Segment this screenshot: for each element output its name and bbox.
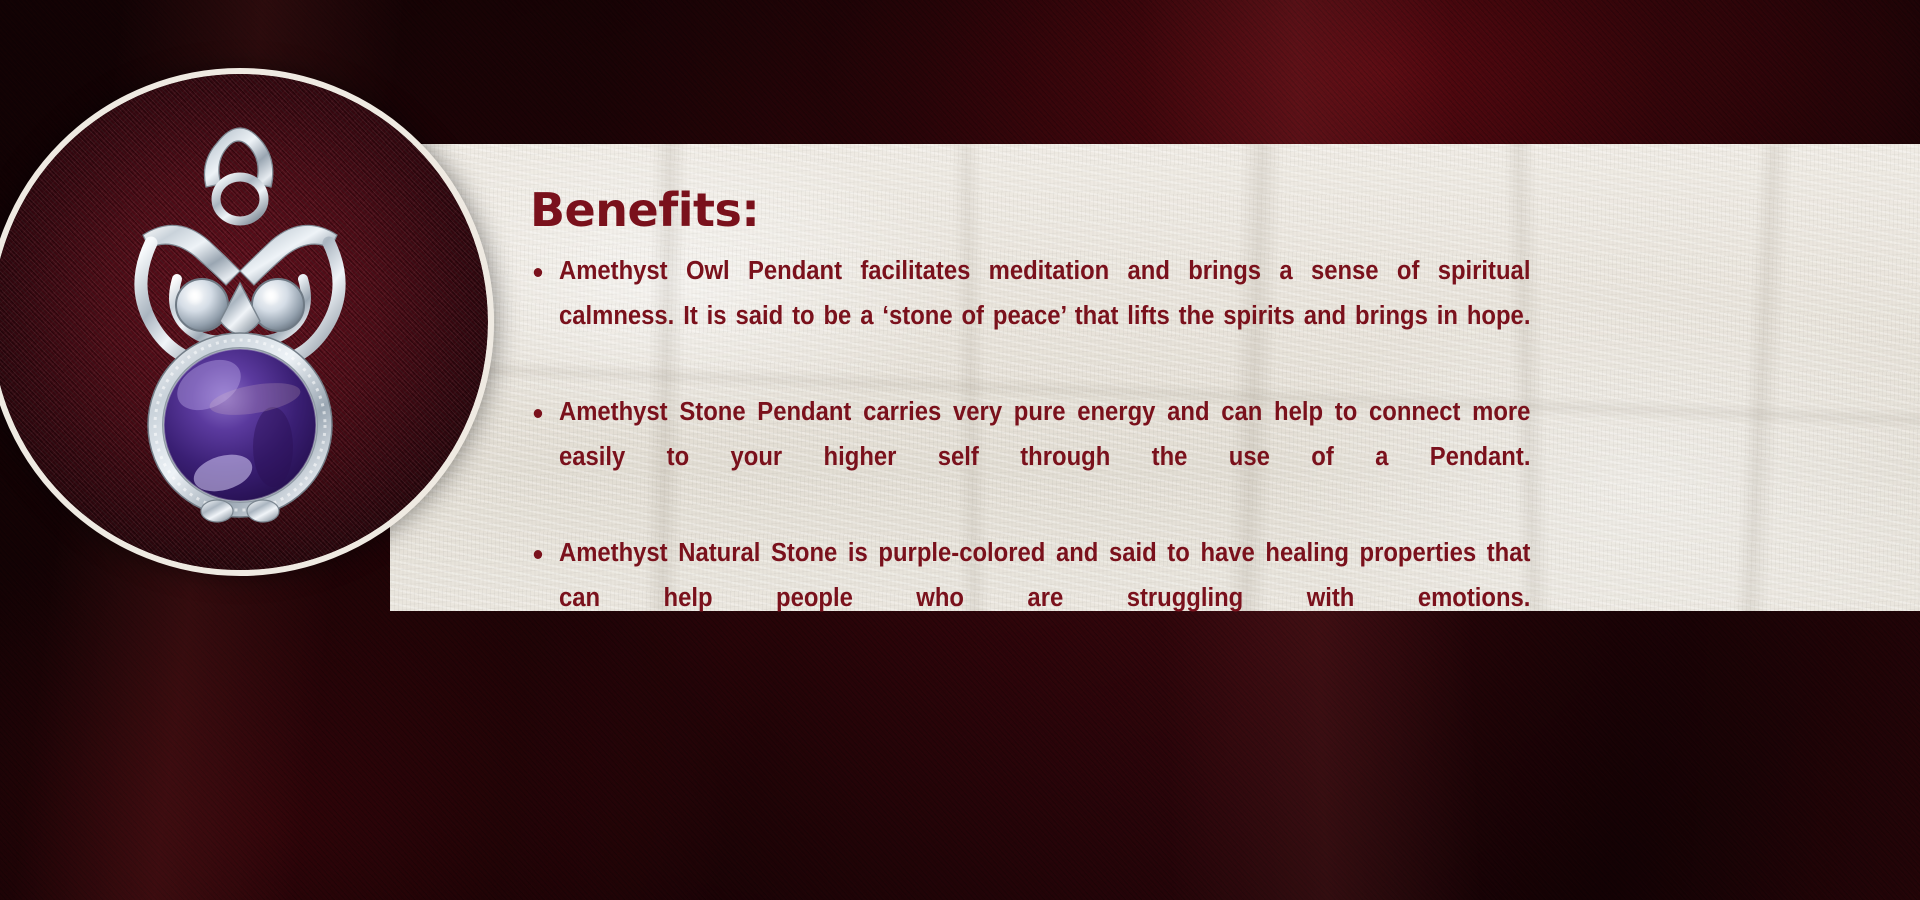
owl-left-eye	[176, 279, 228, 331]
owl-left-brow	[143, 225, 240, 285]
list-item: Amethyst Owl Pendant facilitates meditat…	[530, 249, 1530, 384]
benefits-banner: Benefits: Amethyst Owl Pendant facilitat…	[0, 0, 1920, 900]
owl-left-foot	[201, 500, 233, 522]
owl-right-foot	[247, 500, 279, 522]
owl-right-brow	[240, 225, 337, 285]
product-photo-circle	[0, 68, 494, 576]
bullet-icon	[534, 268, 542, 277]
benefits-list: Amethyst Owl Pendant facilitates meditat…	[530, 249, 1530, 666]
bullet-icon	[534, 550, 542, 559]
owl-right-eye-glint	[262, 288, 280, 306]
owl-right-eye	[252, 279, 304, 331]
page-title: Benefits:	[530, 186, 1530, 235]
list-item: Amethyst Natural Stone is purple-colored…	[530, 531, 1530, 666]
owl-pendant-image	[105, 107, 375, 537]
owl-left-eye-glint	[186, 288, 204, 306]
benefit-text: Amethyst Natural Stone is purple-colored…	[559, 539, 1530, 612]
product-photo-background	[0, 74, 488, 570]
benefit-text: Amethyst Stone Pendant carries very pure…	[559, 398, 1530, 471]
benefits-content: Benefits: Amethyst Owl Pendant facilitat…	[530, 186, 1530, 672]
owl-beak	[220, 283, 260, 334]
benefit-text: Amethyst Owl Pendant facilitates meditat…	[559, 257, 1530, 330]
bullet-icon	[534, 409, 542, 418]
list-item: Amethyst Stone Pendant carries very pure…	[530, 390, 1530, 525]
pendant-jump-ring	[216, 177, 264, 221]
